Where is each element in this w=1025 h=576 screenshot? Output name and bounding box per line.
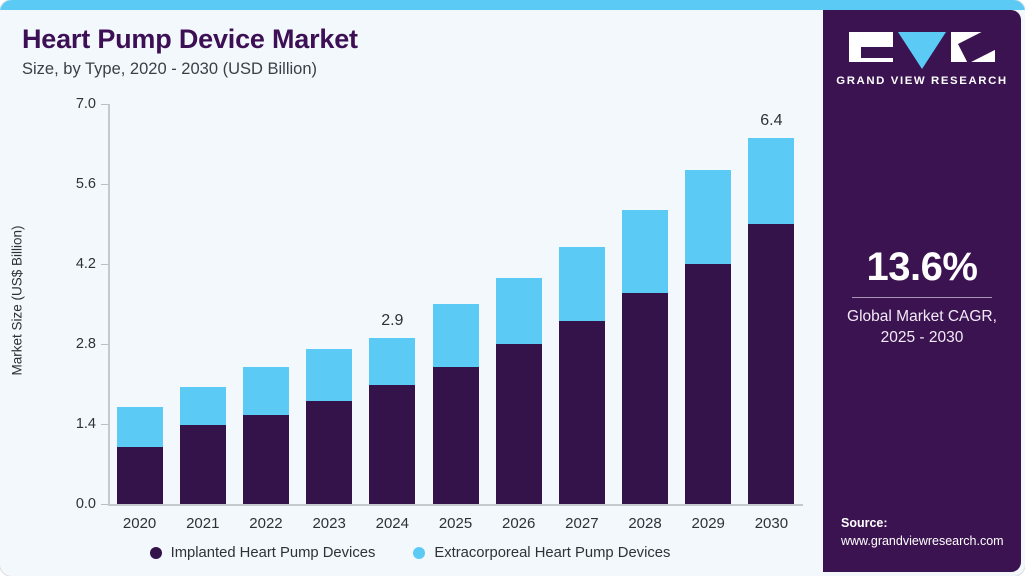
legend-item[interactable]: Extracorporeal Heart Pump Devices xyxy=(413,545,670,561)
source-url[interactable]: www.grandviewresearch.com xyxy=(841,532,1004,550)
bar-segment-extracorporeal[interactable] xyxy=(117,407,163,447)
x-axis-tick-label: 2025 xyxy=(439,515,472,532)
x-axis-tick-label: 2020 xyxy=(123,515,156,532)
bar-stack[interactable] xyxy=(433,304,479,504)
bar-segment-extracorporeal[interactable] xyxy=(559,247,605,321)
legend-swatch-icon xyxy=(413,547,425,559)
y-axis-tick-label: 4.2 xyxy=(46,256,96,272)
legend-label: Extracorporeal Heart Pump Devices xyxy=(434,545,670,561)
x-axis-tick-label: 2021 xyxy=(186,515,219,532)
logo-letter-g-icon xyxy=(849,32,893,62)
logo-marks xyxy=(849,32,995,66)
y-axis-tick-mark xyxy=(101,504,108,505)
brand-name: GRAND VIEW RESEARCH xyxy=(836,75,1008,87)
logo-letter-r-icon xyxy=(951,32,995,62)
top-accent-bar xyxy=(0,0,1025,10)
cagr-caption-line2: 2025 - 2030 xyxy=(823,328,1021,349)
brand-logo: GRAND VIEW RESEARCH xyxy=(823,32,1021,87)
x-axis-tick-label: 2024 xyxy=(376,515,409,532)
bar-segment-implanted[interactable] xyxy=(559,321,605,504)
cagr-caption: Global Market CAGR, 2025 - 2030 xyxy=(823,307,1021,349)
bar-chart-plot: Market Size (US$ Billion) 0.01.42.84.25.… xyxy=(0,10,820,576)
bar-stack[interactable] xyxy=(748,138,794,504)
y-axis-tick-mark xyxy=(101,104,108,105)
source-block: Source: www.grandviewresearch.com xyxy=(841,514,1004,550)
side-panel: GRAND VIEW RESEARCH 13.6% Global Market … xyxy=(823,10,1021,572)
bar-segment-implanted[interactable] xyxy=(306,401,352,504)
y-axis-tick-mark xyxy=(101,424,108,425)
bar-stack[interactable] xyxy=(685,170,731,504)
cagr-caption-line1: Global Market CAGR, xyxy=(823,307,1021,328)
bar-segment-extracorporeal[interactable] xyxy=(433,304,479,367)
cagr-block: 13.6% Global Market CAGR, 2025 - 2030 xyxy=(823,246,1021,349)
y-axis-tick-mark xyxy=(101,344,108,345)
y-axis-tick-label: 1.4 xyxy=(46,416,96,432)
cagr-divider xyxy=(852,297,992,298)
bar-segment-implanted[interactable] xyxy=(748,224,794,504)
bar-value-label: 6.4 xyxy=(760,112,782,130)
y-axis-line xyxy=(108,104,110,504)
bar-stack[interactable] xyxy=(496,278,542,504)
x-axis-tick-label: 2027 xyxy=(565,515,598,532)
bar-stack[interactable] xyxy=(117,407,163,504)
y-axis-tick-label: 0.0 xyxy=(46,496,96,512)
x-axis-tick-label: 2030 xyxy=(755,515,788,532)
logo-letter-v-icon xyxy=(898,32,946,69)
bar-segment-implanted[interactable] xyxy=(117,447,163,504)
bar-stack[interactable] xyxy=(559,247,605,504)
y-axis-tick-label: 2.8 xyxy=(46,336,96,352)
bar-segment-implanted[interactable] xyxy=(369,385,415,504)
bar-stack[interactable] xyxy=(369,338,415,504)
chart-panel: Heart Pump Device Market Size, by Type, … xyxy=(0,10,820,576)
bar-segment-extracorporeal[interactable] xyxy=(622,210,668,293)
bar-segment-implanted[interactable] xyxy=(243,415,289,504)
y-axis-tick-label: 5.6 xyxy=(46,176,96,192)
y-axis-tick-mark xyxy=(101,264,108,265)
legend-swatch-icon xyxy=(150,547,162,559)
legend-label: Implanted Heart Pump Devices xyxy=(171,545,376,561)
bar-stack[interactable] xyxy=(306,349,352,504)
bar-stack[interactable] xyxy=(622,210,668,504)
cagr-value: 13.6% xyxy=(823,246,1021,288)
y-axis-title: Market Size (US$ Billion) xyxy=(10,101,25,501)
x-axis-tick-label: 2029 xyxy=(692,515,725,532)
x-axis-tick-label: 2028 xyxy=(628,515,661,532)
bar-value-label: 2.9 xyxy=(381,312,403,330)
legend-item[interactable]: Implanted Heart Pump Devices xyxy=(150,545,376,561)
bar-segment-implanted[interactable] xyxy=(622,293,668,504)
bar-stack[interactable] xyxy=(243,367,289,504)
bar-segment-extracorporeal[interactable] xyxy=(748,138,794,224)
bar-segment-extracorporeal[interactable] xyxy=(496,278,542,344)
bar-segment-extracorporeal[interactable] xyxy=(306,349,352,402)
bar-stack[interactable] xyxy=(180,387,226,504)
bar-segment-implanted[interactable] xyxy=(496,344,542,504)
chart-legend: Implanted Heart Pump DevicesExtracorpore… xyxy=(0,545,820,561)
bar-segment-extracorporeal[interactable] xyxy=(685,170,731,264)
y-axis-tick-label: 7.0 xyxy=(46,96,96,112)
x-axis-line xyxy=(108,504,803,506)
x-axis-tick-label: 2023 xyxy=(312,515,345,532)
source-label: Source: xyxy=(841,514,1004,532)
bar-segment-extracorporeal[interactable] xyxy=(180,387,226,425)
y-axis-tick-mark xyxy=(101,184,108,185)
bar-segment-extracorporeal[interactable] xyxy=(369,338,415,385)
bar-segment-implanted[interactable] xyxy=(685,264,731,504)
x-axis-tick-label: 2022 xyxy=(249,515,282,532)
infographic-card: Heart Pump Device Market Size, by Type, … xyxy=(0,0,1025,576)
bar-segment-implanted[interactable] xyxy=(180,425,226,504)
bar-segment-implanted[interactable] xyxy=(433,367,479,504)
bar-segment-extracorporeal[interactable] xyxy=(243,367,289,416)
x-axis-tick-label: 2026 xyxy=(502,515,535,532)
